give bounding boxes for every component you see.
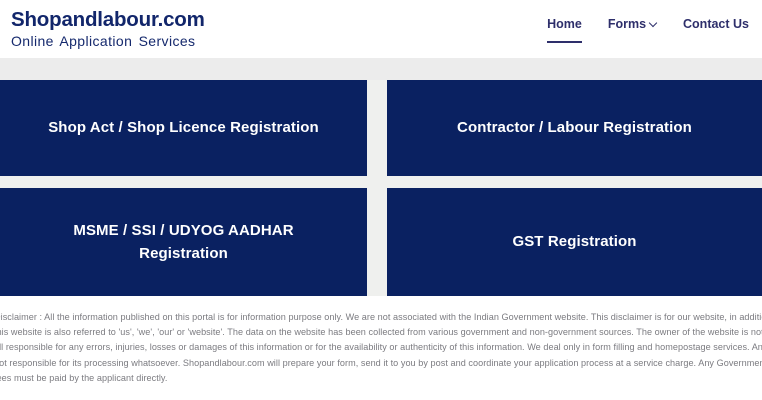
nav-item-home-label: Home <box>547 16 582 32</box>
nav-item-forms-label: Forms <box>608 16 646 32</box>
page-root: Shopandlabour.com Online Application Ser… <box>0 0 762 400</box>
brand-title: Shopandlabour.com <box>11 9 205 31</box>
service-cell-2: Contractor / Labour Registration <box>377 80 762 176</box>
service-card-contractor-labour[interactable]: Contractor / Labour Registration <box>387 80 762 176</box>
service-cell-1: Shop Act / Shop Licence Registration <box>0 80 377 176</box>
main-navigation: Home Forms Contact Us <box>534 16 762 32</box>
site-logo[interactable]: Shopandlabour.com Online Application Ser… <box>11 9 205 48</box>
nav-item-contact-us-label: Contact Us <box>683 16 749 32</box>
services-section: Shop Act / Shop Licence Registration Con… <box>0 80 762 296</box>
service-card-gst[interactable]: GST Registration <box>387 188 762 296</box>
chevron-down-icon <box>650 20 657 27</box>
site-header: Shopandlabour.com Online Application Ser… <box>0 0 762 58</box>
nav-item-forms[interactable]: Forms <box>595 16 670 32</box>
header-divider-band <box>0 58 762 80</box>
disclaimer-text: Disclaimer : All the information publish… <box>0 310 762 386</box>
service-card-shop-act[interactable]: Shop Act / Shop Licence Registration <box>0 80 367 176</box>
disclaimer-section: Disclaimer : All the information publish… <box>0 303 762 400</box>
service-card-msme-ssi-udyog[interactable]: MSME / SSI / UDYOG AADHAR Registration <box>0 188 367 296</box>
service-card-label: MSME / SSI / UDYOG AADHAR Registration <box>20 219 348 266</box>
services-grid: Shop Act / Shop Licence Registration Con… <box>0 80 762 296</box>
service-cell-4: GST Registration <box>377 188 762 296</box>
service-card-label: Shop Act / Shop Licence Registration <box>34 116 333 139</box>
service-card-label: GST Registration <box>498 230 650 253</box>
service-cell-3: MSME / SSI / UDYOG AADHAR Registration <box>0 188 377 296</box>
nav-item-contact-us[interactable]: Contact Us <box>670 16 762 32</box>
nav-item-home[interactable]: Home <box>534 16 595 32</box>
service-card-label: Contractor / Labour Registration <box>443 116 706 139</box>
brand-subtitle: Online Application Services <box>11 34 205 49</box>
